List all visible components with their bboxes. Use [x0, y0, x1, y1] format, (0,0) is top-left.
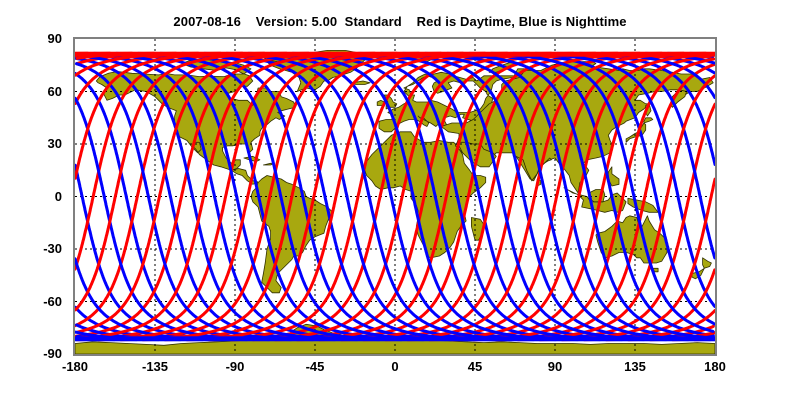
x-tick-label: -180: [45, 360, 105, 373]
x-tick-label: 45: [445, 360, 505, 373]
landmass-new-zealand-n: [703, 258, 712, 269]
x-tick-label: -45: [285, 360, 345, 373]
map-plot-area: [75, 39, 715, 354]
x-tick-label: -90: [205, 360, 265, 373]
y-tick-label: -60: [0, 295, 62, 308]
y-tick-label: 90: [0, 32, 62, 45]
y-tick-label: 0: [0, 190, 62, 203]
nighttime-ground-track: [700, 197, 715, 258]
landmass-japan-north: [644, 118, 653, 123]
y-tick-label: -30: [0, 242, 62, 255]
x-tick-label: 135: [605, 360, 665, 373]
map-plot-frame: [73, 37, 717, 356]
y-tick-label: 60: [0, 85, 62, 98]
daytime-polar-band: [75, 52, 715, 57]
y-tick-label: 30: [0, 137, 62, 150]
x-tick-label: -135: [125, 360, 185, 373]
x-tick-label: 180: [685, 360, 745, 373]
x-tick-label: 0: [365, 360, 425, 373]
y-tick-label: -90: [0, 347, 62, 360]
world-map-groundtrack-svg: [75, 39, 715, 354]
nighttime-polar-band: [75, 336, 715, 341]
page-title: 2007-08-16 Version: 5.00 Standard Red is…: [0, 14, 800, 29]
x-tick-label: 90: [525, 360, 585, 373]
